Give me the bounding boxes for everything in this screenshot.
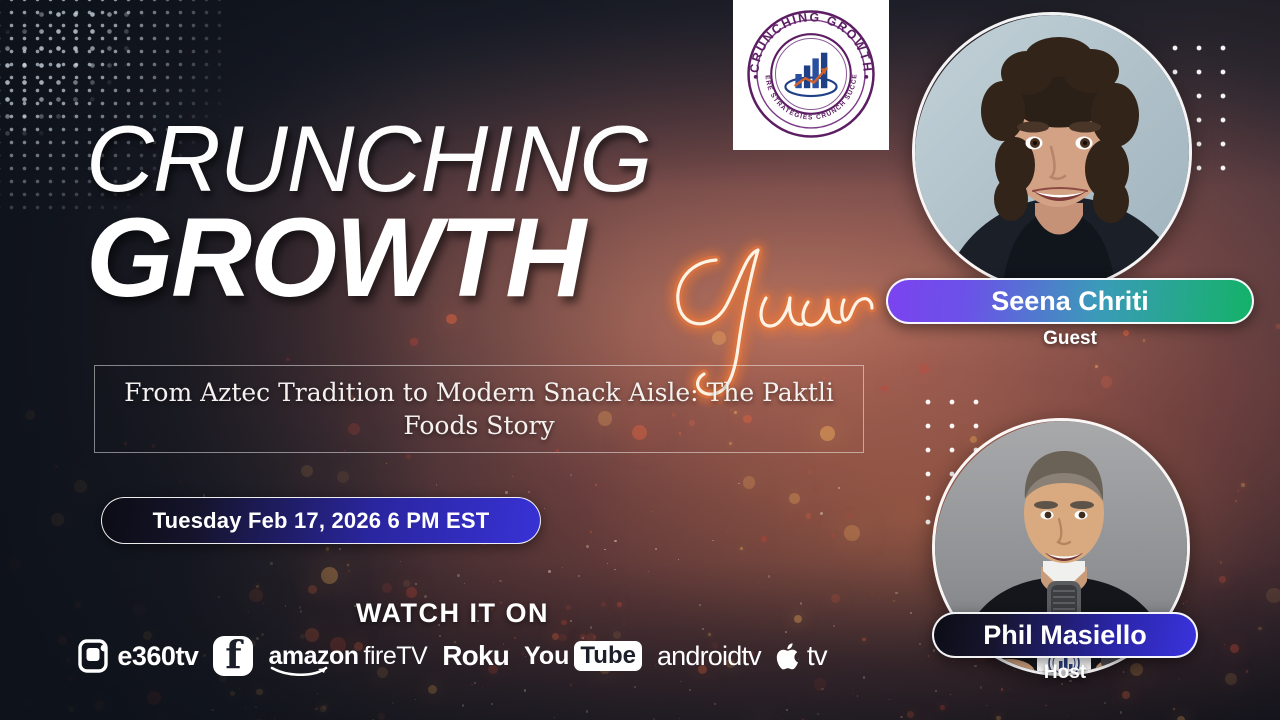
watch-it-on-label: WATCH IT ON [0,598,905,629]
apple-icon [776,640,802,672]
host-name-pill: Phil Masiello [932,612,1198,658]
schedule-pill: Tuesday Feb 17, 2026 6 PM EST [101,497,541,544]
amazon-smile-icon [270,666,330,676]
guest-name-pill: Seena Chriti [886,278,1254,324]
guest-photo [912,12,1192,292]
platform-facebook[interactable] [213,636,253,676]
platform-roku[interactable]: Roku [442,640,509,672]
platform-logos-row: e360tv amazon fireTV Roku You Tube andro… [0,636,905,676]
title-line-crunching: CRUNCHING [86,112,651,206]
platform-youtube[interactable]: You Tube [524,641,642,671]
episode-title-text: From Aztec Tradition to Modern Snack Ais… [121,376,837,442]
platform-youtube-you: You [524,642,569,671]
show-title: CRUNCHING GROWTH [86,112,886,332]
schedule-text: Tuesday Feb 17, 2026 6 PM EST [153,508,490,534]
platform-e360tv[interactable]: e360tv [78,639,198,673]
platform-appletv-label: tv [807,640,827,672]
platform-androidtv-label: androidtv [657,641,761,672]
host-name: Phil Masiello [983,620,1147,651]
host-role: Host [932,662,1198,684]
promo-graphic: CRUNCHING GROWTH WHERE STRATEGIES CRUNCH… [0,0,1280,720]
platform-youtube-tube: Tube [574,641,642,671]
facebook-icon [213,636,253,676]
platform-e360tv-label: e360tv [117,641,198,672]
episode-title-box: From Aztec Tradition to Modern Snack Ais… [94,365,864,453]
platform-appletv[interactable]: tv [776,640,827,672]
title-line-growth: GROWTH [86,202,584,314]
guest-portrait-illustration [915,15,1192,292]
e360tv-icon [78,639,112,673]
platform-firetv-label: fireTV [364,642,428,671]
platform-roku-label: Roku [442,640,509,672]
platform-androidtv[interactable]: androidtv [657,641,761,672]
guest-name: Seena Chriti [991,286,1149,317]
platform-firetv[interactable]: amazon fireTV [268,642,427,671]
guest-role: Guest [886,328,1254,350]
